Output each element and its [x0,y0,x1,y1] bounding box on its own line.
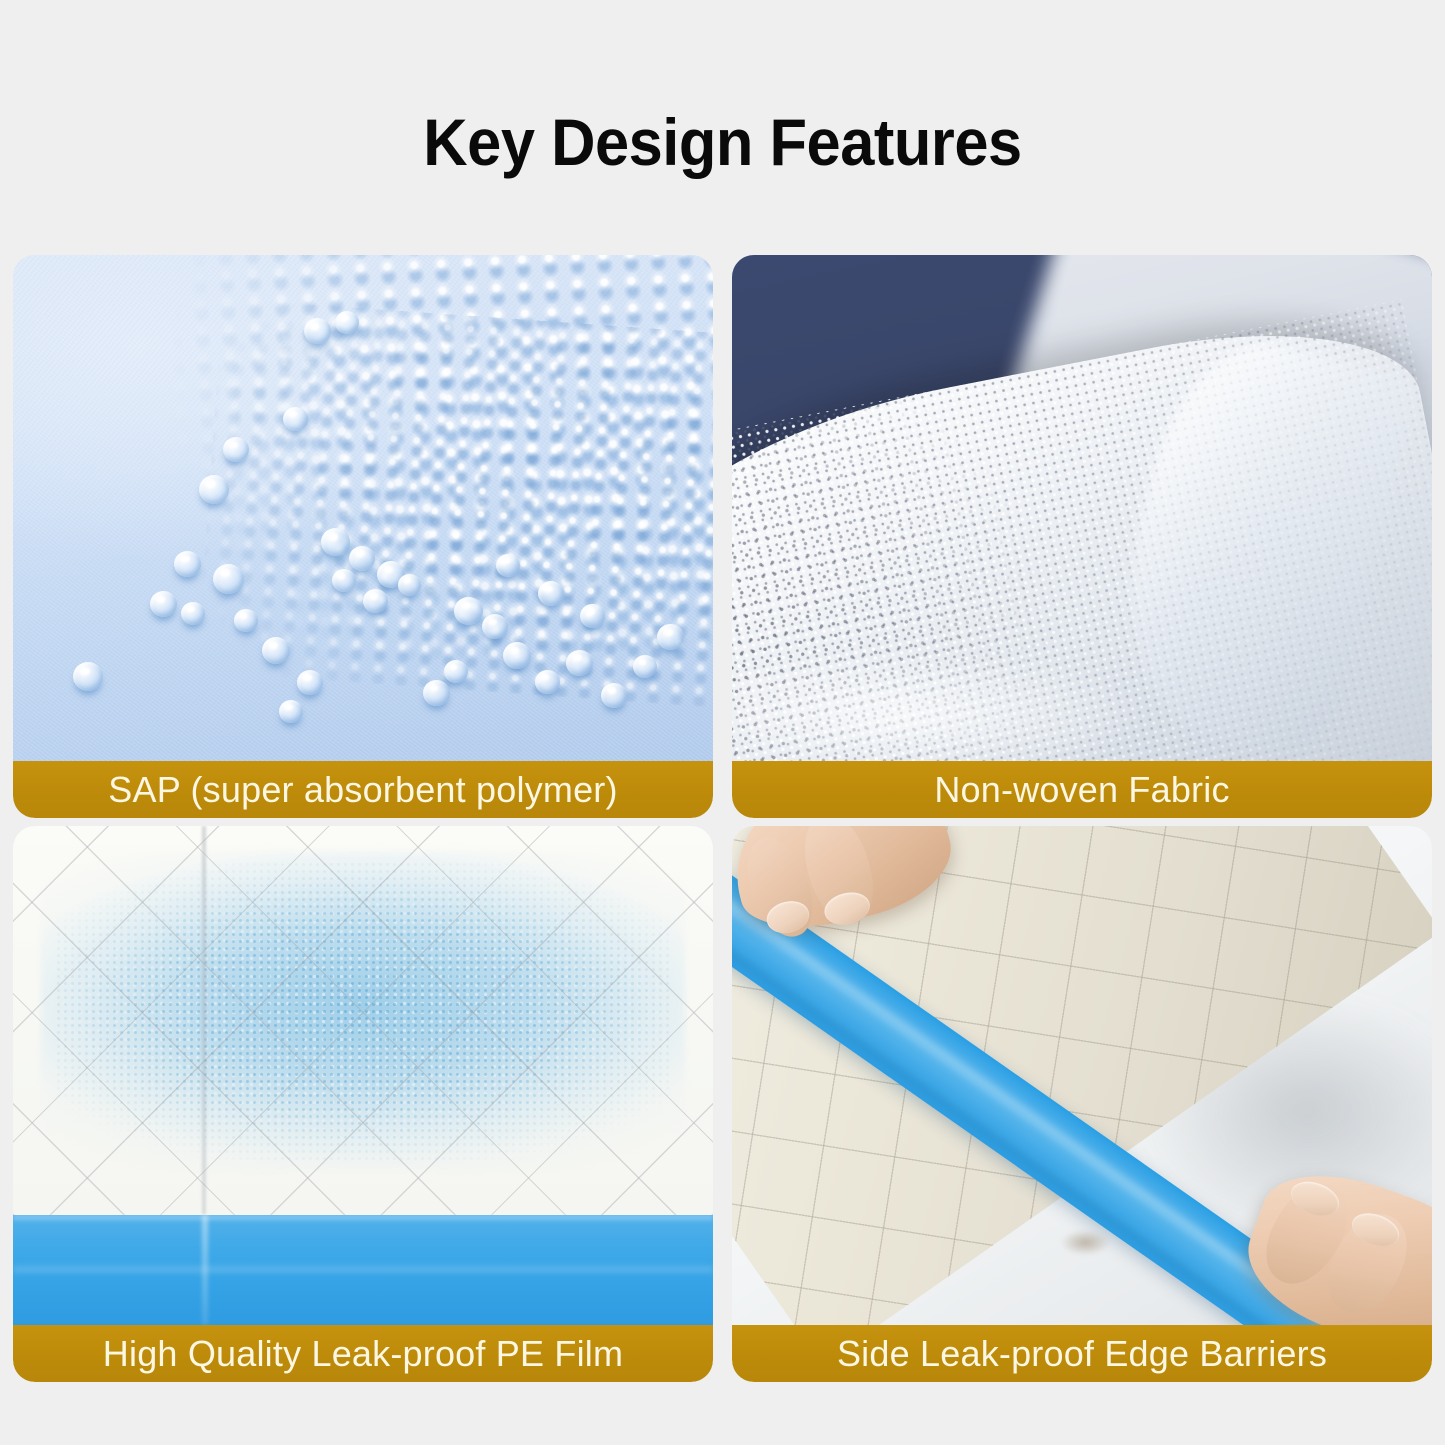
edge-barriers-caption-bar: Side Leak-proof Edge Barriers [732,1325,1432,1382]
edge-barriers-pad-smudge [1061,1230,1110,1255]
feature-card-non-woven-fabric[interactable]: Non-woven Fabric [732,255,1432,818]
edge-barriers-photo [732,826,1432,1325]
sap-loose-beads [13,255,713,761]
sap-caption-label: SAP (super absorbent polymer) [108,769,617,811]
feature-grid: SAP (super absorbent polymer) Non-woven … [13,255,1432,1382]
pe-film-strip-top-edge [13,1215,713,1220]
pe-film-photo [13,826,713,1325]
edge-barriers-caption-label: Side Leak-proof Edge Barriers [837,1333,1327,1375]
pe-film-caption-bar: High Quality Leak-proof PE Film [13,1325,713,1382]
page-title: Key Design Features [51,104,1395,180]
feature-card-edge-barriers[interactable]: Side Leak-proof Edge Barriers [732,826,1432,1382]
pe-film-strip-highlight [13,1266,713,1273]
sap-photo [13,255,713,761]
non-woven-fabric-caption-bar: Non-woven Fabric [732,761,1432,818]
feature-card-pe-film[interactable]: High Quality Leak-proof PE Film [13,826,713,1382]
pe-film-caption-label: High Quality Leak-proof PE Film [103,1333,623,1375]
pe-film-strip [13,1215,713,1325]
pe-film-quilt-pattern [13,826,713,1215]
sap-caption-bar: SAP (super absorbent polymer) [13,761,713,818]
non-woven-fabric-caption-label: Non-woven Fabric [934,769,1229,811]
non-woven-fabric-photo [732,255,1432,761]
non-woven-edge-glow [732,650,1152,761]
pe-film-fold-crease [202,826,206,1215]
feature-card-sap[interactable]: SAP (super absorbent polymer) [13,255,713,818]
